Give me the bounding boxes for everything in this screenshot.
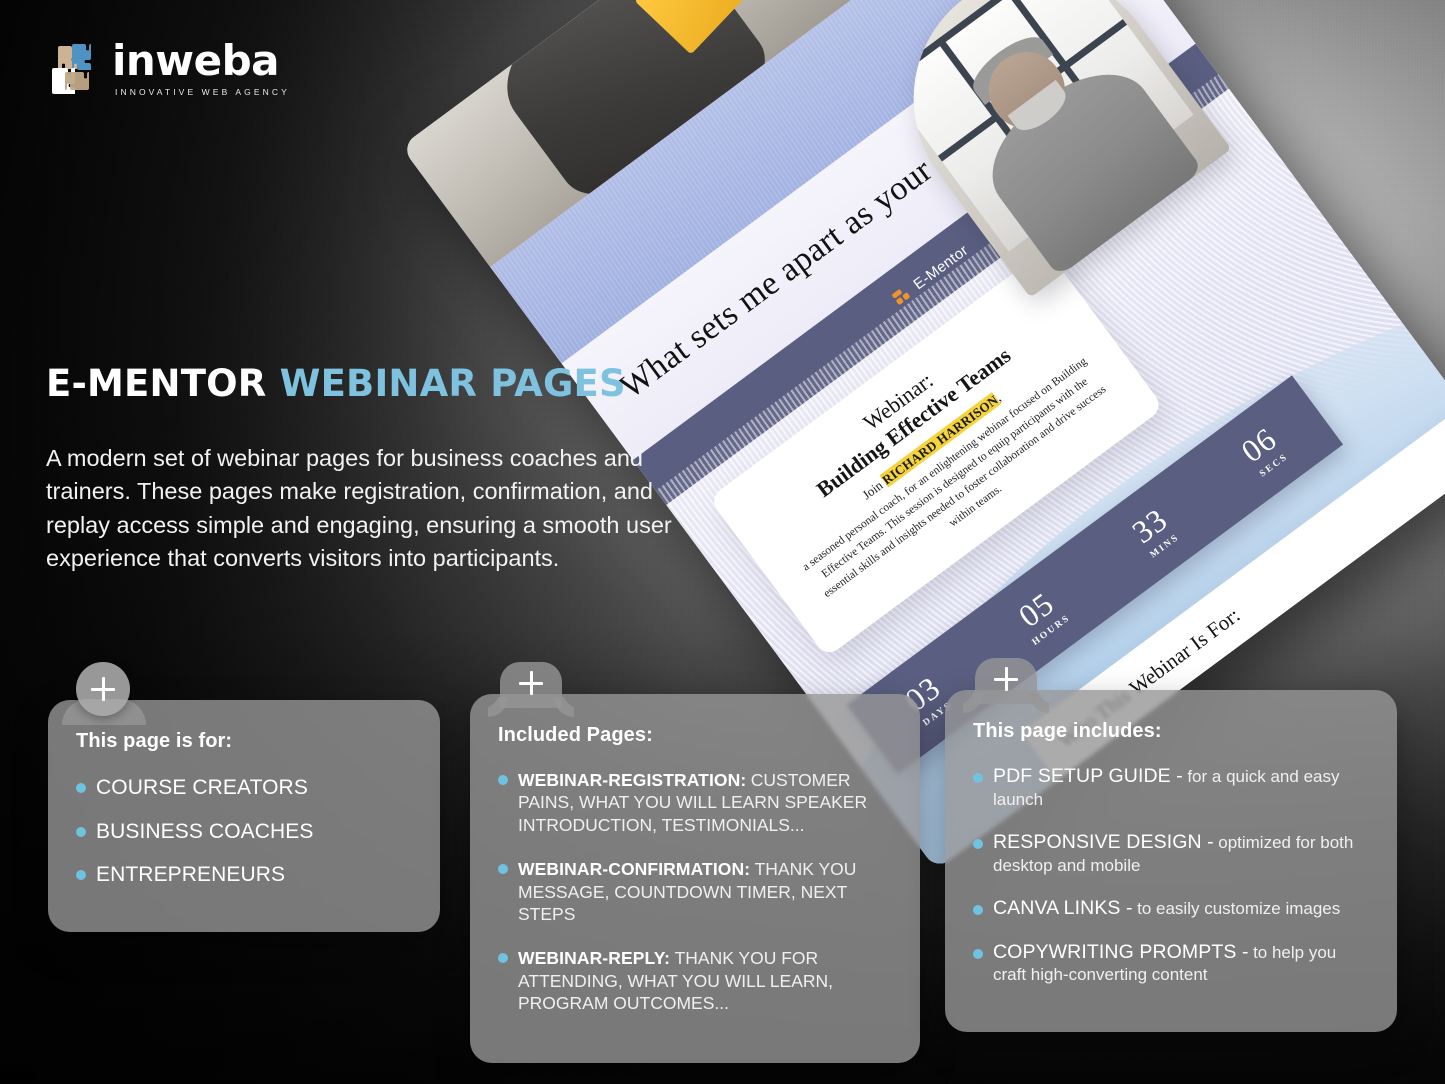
bullet-dot-icon bbox=[973, 773, 983, 783]
brand-logo: inweba INNOVATIVE WEB AGENCY bbox=[46, 40, 290, 97]
info-card-deliverables[interactable]: This page includes: PDF SETUP GUIDE - fo… bbox=[945, 690, 1397, 1032]
list-item-label: ENTREPRENEURS bbox=[96, 863, 285, 886]
bullet-dot-icon bbox=[76, 783, 86, 793]
list-item: RESPONSIVE DESIGN - optimized for both d… bbox=[973, 831, 1369, 877]
list-item: ENTREPRENEURS bbox=[76, 862, 412, 888]
list-item-label: COURSE CREATORS bbox=[96, 776, 308, 799]
list-item: WEBINAR-CONFIRMATION: THANK YOU MESSAGE,… bbox=[498, 858, 892, 925]
list-item: COPYWRITING PROMPTS - to help you craft … bbox=[973, 941, 1369, 987]
list-item-label: COPYWRITING PROMPTS - bbox=[993, 941, 1249, 963]
bullet-dot-icon bbox=[973, 949, 983, 959]
card-title: This page is for: bbox=[76, 730, 412, 753]
page-title-primary: E-MENTOR bbox=[46, 362, 280, 405]
list-item: CANVA LINKS - to easily customize images bbox=[973, 897, 1369, 921]
list-item: PDF SETUP GUIDE - for a quick and easy l… bbox=[973, 765, 1369, 811]
puzzle-pieces-icon bbox=[46, 42, 98, 96]
list-item: COURSE CREATORS bbox=[76, 775, 412, 801]
bullet-dot-icon bbox=[498, 864, 508, 874]
bullet-dot-icon bbox=[76, 870, 86, 880]
list-item-label: WEBINAR-CONFIRMATION: bbox=[518, 859, 750, 879]
bullet-dot-icon bbox=[973, 839, 983, 849]
card-title: Included Pages: bbox=[498, 724, 892, 747]
page-title: E-MENTOR WEBINAR PAGES bbox=[46, 364, 626, 405]
list-item-label: WEBINAR-REPLY: bbox=[518, 948, 670, 968]
list-item-label: PDF SETUP GUIDE - bbox=[993, 765, 1183, 787]
list-item-label: WEBINAR-REGISTRATION: bbox=[518, 770, 746, 790]
list-item: WEBINAR-REPLY: THANK YOU FOR ATTENDING, … bbox=[498, 947, 892, 1014]
bullet-dot-icon bbox=[973, 905, 983, 915]
list-item-label: BUSINESS COACHES bbox=[96, 820, 314, 843]
info-card-included-pages[interactable]: Included Pages: WEBINAR-REGISTRATION: CU… bbox=[470, 694, 920, 1063]
page-title-accent: WEBINAR PAGES bbox=[280, 362, 626, 405]
poster-canvas: What sets me apart as your business E-Me… bbox=[0, 0, 1445, 1084]
bullet-dot-icon bbox=[498, 775, 508, 785]
brand-name: inweba bbox=[112, 40, 290, 82]
list-item-label: RESPONSIVE DESIGN - bbox=[993, 831, 1214, 853]
card-title: This page includes: bbox=[973, 720, 1369, 743]
bullet-dot-icon bbox=[498, 953, 508, 963]
page-description: A modern set of webinar pages for busine… bbox=[46, 442, 706, 575]
bullet-dot-icon bbox=[76, 827, 86, 837]
brand-text: inweba INNOVATIVE WEB AGENCY bbox=[112, 40, 290, 97]
brand-tagline: INNOVATIVE WEB AGENCY bbox=[115, 87, 290, 97]
list-item-detail: to easily customize images bbox=[1137, 899, 1340, 918]
info-card-audience[interactable]: This page is for: COURSE CREATORS BUSINE… bbox=[48, 700, 440, 932]
list-item: WEBINAR-REGISTRATION: CUSTOMER PAINS, WH… bbox=[498, 769, 892, 836]
list-item: BUSINESS COACHES bbox=[76, 819, 412, 845]
list-item-label: CANVA LINKS - bbox=[993, 897, 1133, 919]
